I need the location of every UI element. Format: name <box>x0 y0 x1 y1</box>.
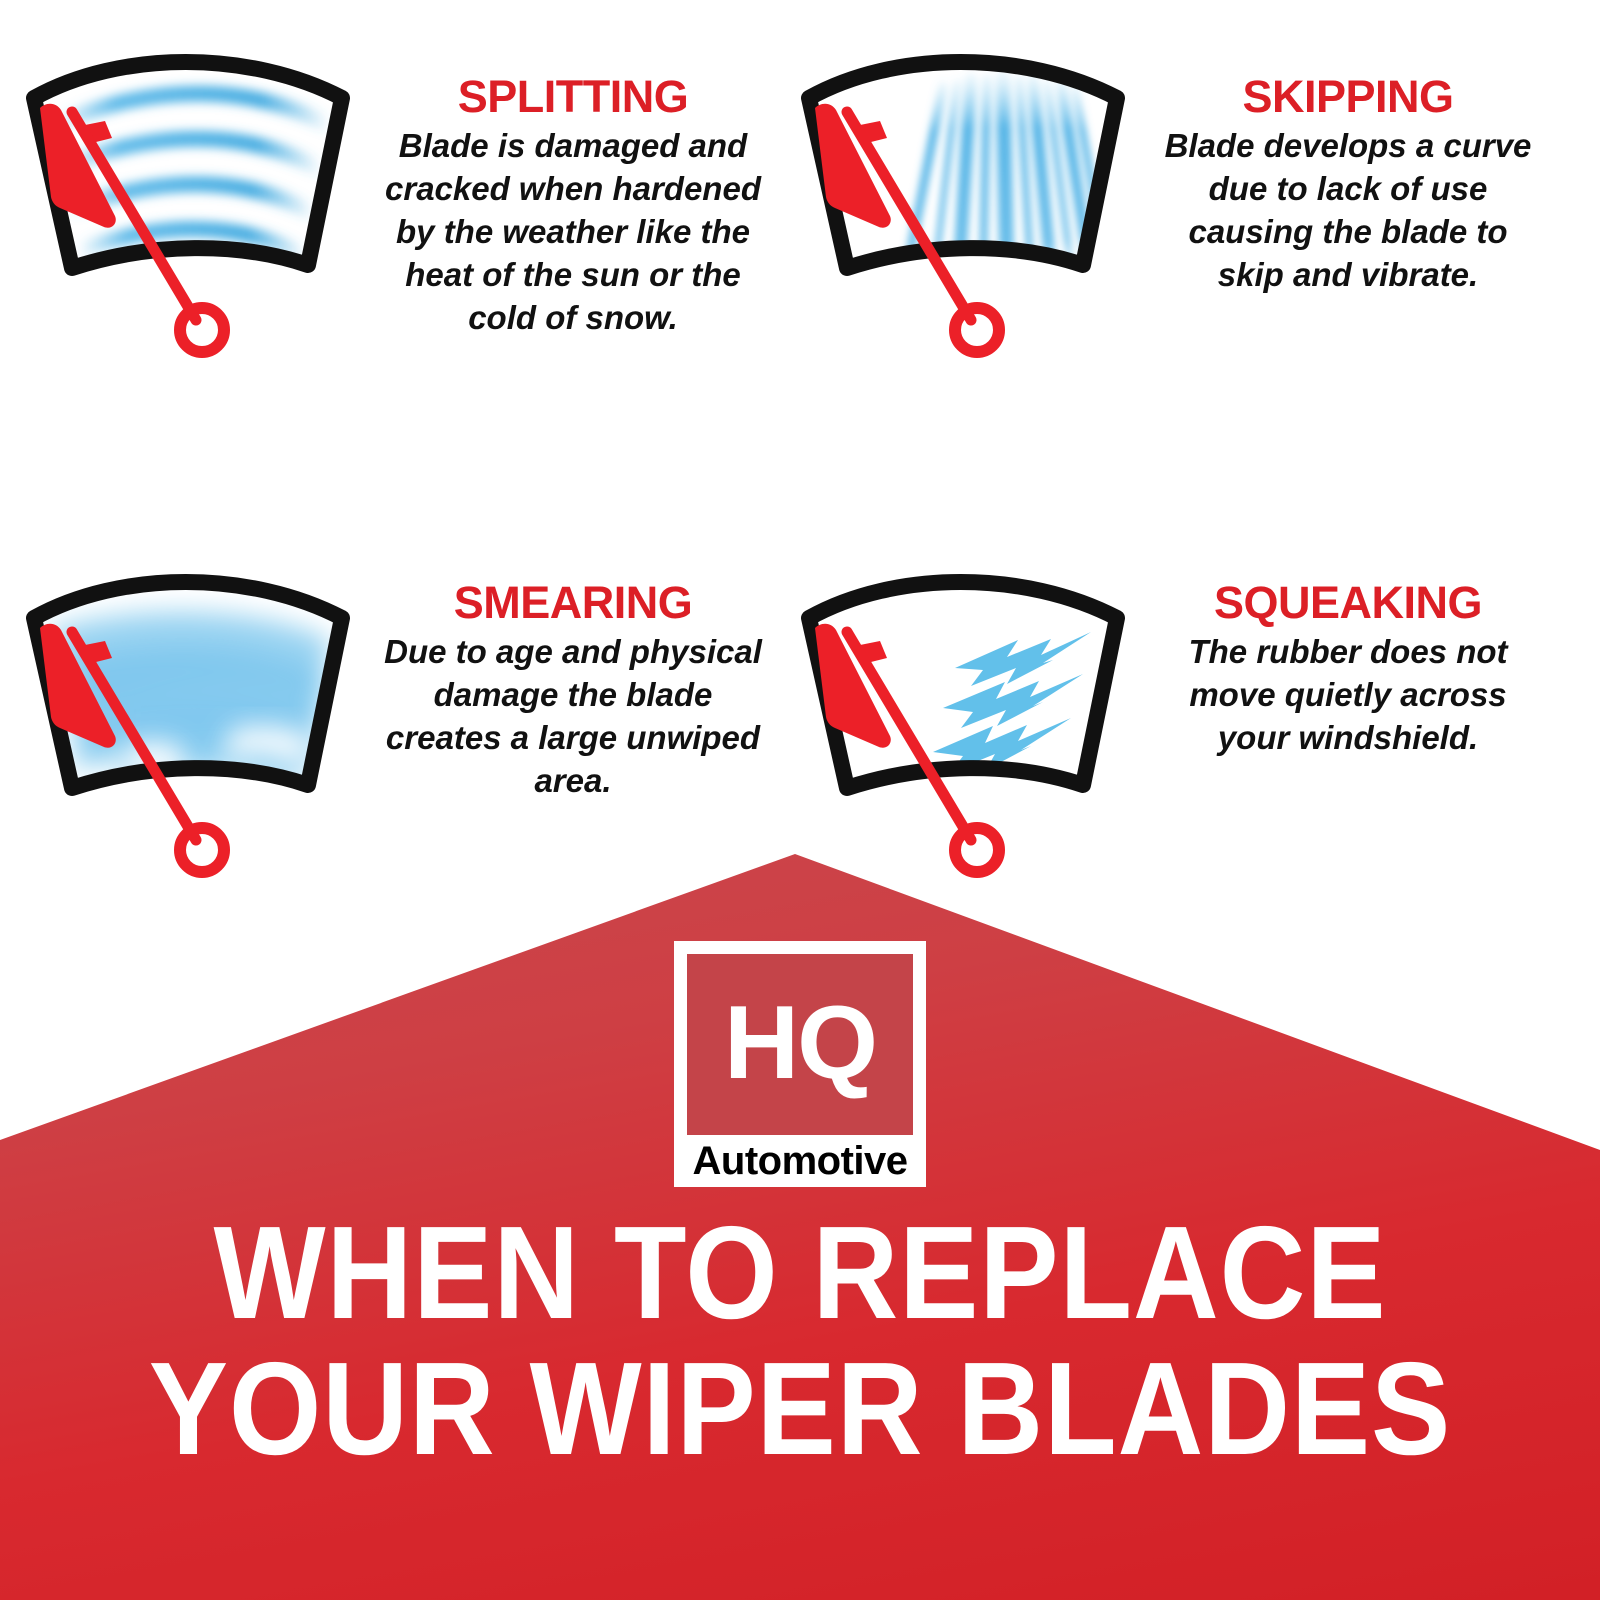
card-body: The rubber does not move quietly across … <box>1155 631 1541 760</box>
infographic-page: SPLITTING Blade is damaged and cracked w… <box>0 0 1600 1600</box>
card-body: Blade is damaged and cracked when harden… <box>380 125 766 339</box>
logo-mark-box: HQ <box>687 954 913 1135</box>
windshield-wiper-smearing-icon <box>0 540 380 880</box>
card-body: Due to age and physical damage the blade… <box>380 631 766 803</box>
card-title: SKIPPING <box>1155 74 1541 119</box>
headline-line-2: YOUR WIPER BLADES <box>80 1341 1520 1477</box>
headline: WHEN TO REPLACE YOUR WIPER BLADES <box>0 1205 1600 1477</box>
card-text-splitting: SPLITTING Blade is damaged and cracked w… <box>380 20 790 339</box>
card-title: SPLITTING <box>380 74 766 119</box>
windshield-wiper-squeaking-icon <box>775 540 1155 880</box>
card-text-skipping: SKIPPING Blade develops a curve due to l… <box>1155 20 1565 297</box>
card-title: SQUEAKING <box>1155 580 1541 625</box>
card-title: SMEARING <box>380 580 766 625</box>
windshield-wiper-splitting-icon <box>0 20 380 360</box>
headline-line-1: WHEN TO REPLACE <box>80 1205 1520 1341</box>
card-body: Blade develops a curve due to lack of us… <box>1155 125 1541 297</box>
card-text-squeaking: SQUEAKING The rubber does not move quiet… <box>1155 540 1565 760</box>
card-splitting: SPLITTING Blade is damaged and cracked w… <box>0 20 790 460</box>
hq-automotive-logo: HQ Automotive <box>674 941 926 1187</box>
card-text-smearing: SMEARING Due to age and physical damage … <box>380 540 790 803</box>
card-skipping: SKIPPING Blade develops a curve due to l… <box>775 20 1565 460</box>
logo-subtitle: Automotive <box>687 1135 913 1187</box>
windshield-wiper-skipping-icon <box>775 20 1155 360</box>
logo-mark-text: HQ <box>724 991 876 1095</box>
